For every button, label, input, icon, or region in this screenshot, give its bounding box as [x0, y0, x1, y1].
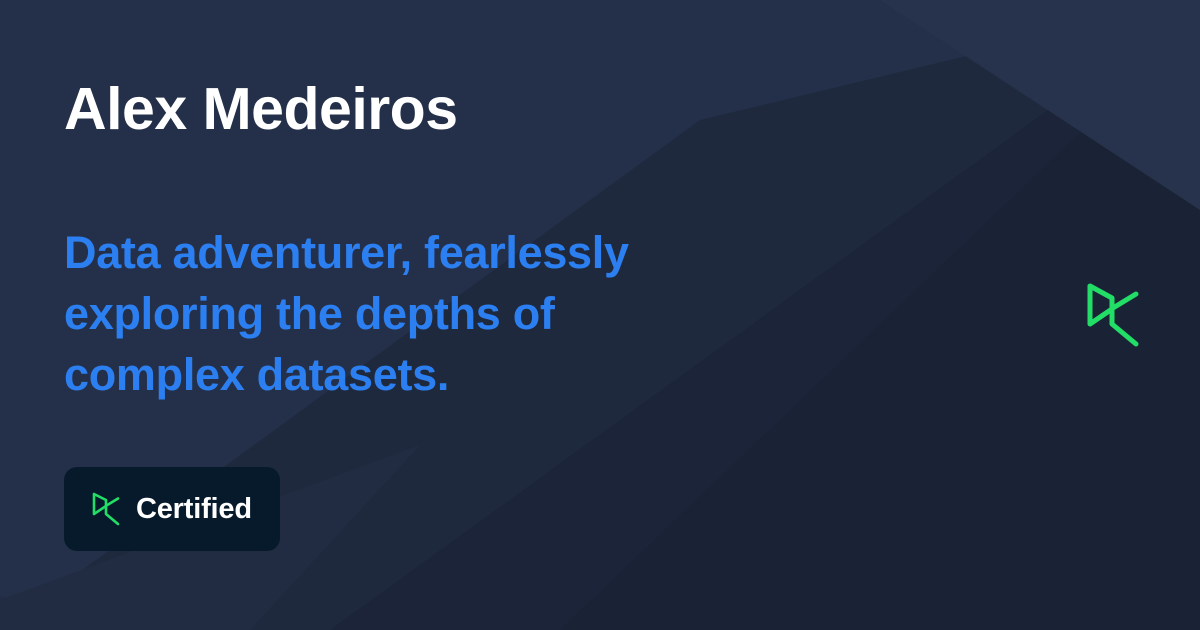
profile-share-card: Alex Medeiros Data adventurer, fearlessl…	[0, 0, 1200, 630]
certified-badge: Certified	[64, 467, 280, 551]
certified-badge-label: Certified	[136, 495, 252, 524]
brand-datacamp-logo-icon	[1086, 282, 1142, 348]
card-content: Alex Medeiros Data adventurer, fearlessl…	[0, 0, 1200, 630]
profile-tagline: Data adventurer, fearlessly exploring th…	[64, 222, 704, 406]
datacamp-logo-icon	[92, 492, 122, 526]
profile-name: Alex Medeiros	[64, 78, 458, 142]
